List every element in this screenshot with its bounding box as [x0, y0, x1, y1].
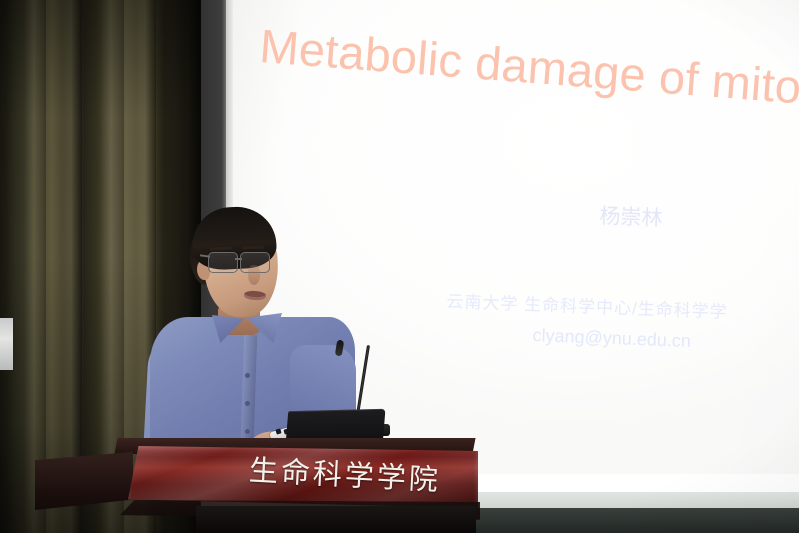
speaker-nose: [248, 265, 260, 285]
shirt-button: [245, 373, 250, 378]
stage-base-shadow: [462, 508, 799, 533]
wall-light-sliver: [0, 318, 13, 370]
shirt-button: [245, 401, 250, 406]
floor-white: [462, 474, 799, 494]
slide-author-name: 杨崇林: [599, 200, 663, 232]
glasses-lens-left: [208, 252, 238, 273]
glasses-bridge: [235, 258, 242, 260]
lecture-photograph: Metabolic damage of mito 杨崇林 云南大学 生命科学中心…: [0, 0, 799, 533]
floor-dark-foreground: [196, 506, 476, 533]
shirt-button: [245, 429, 250, 434]
